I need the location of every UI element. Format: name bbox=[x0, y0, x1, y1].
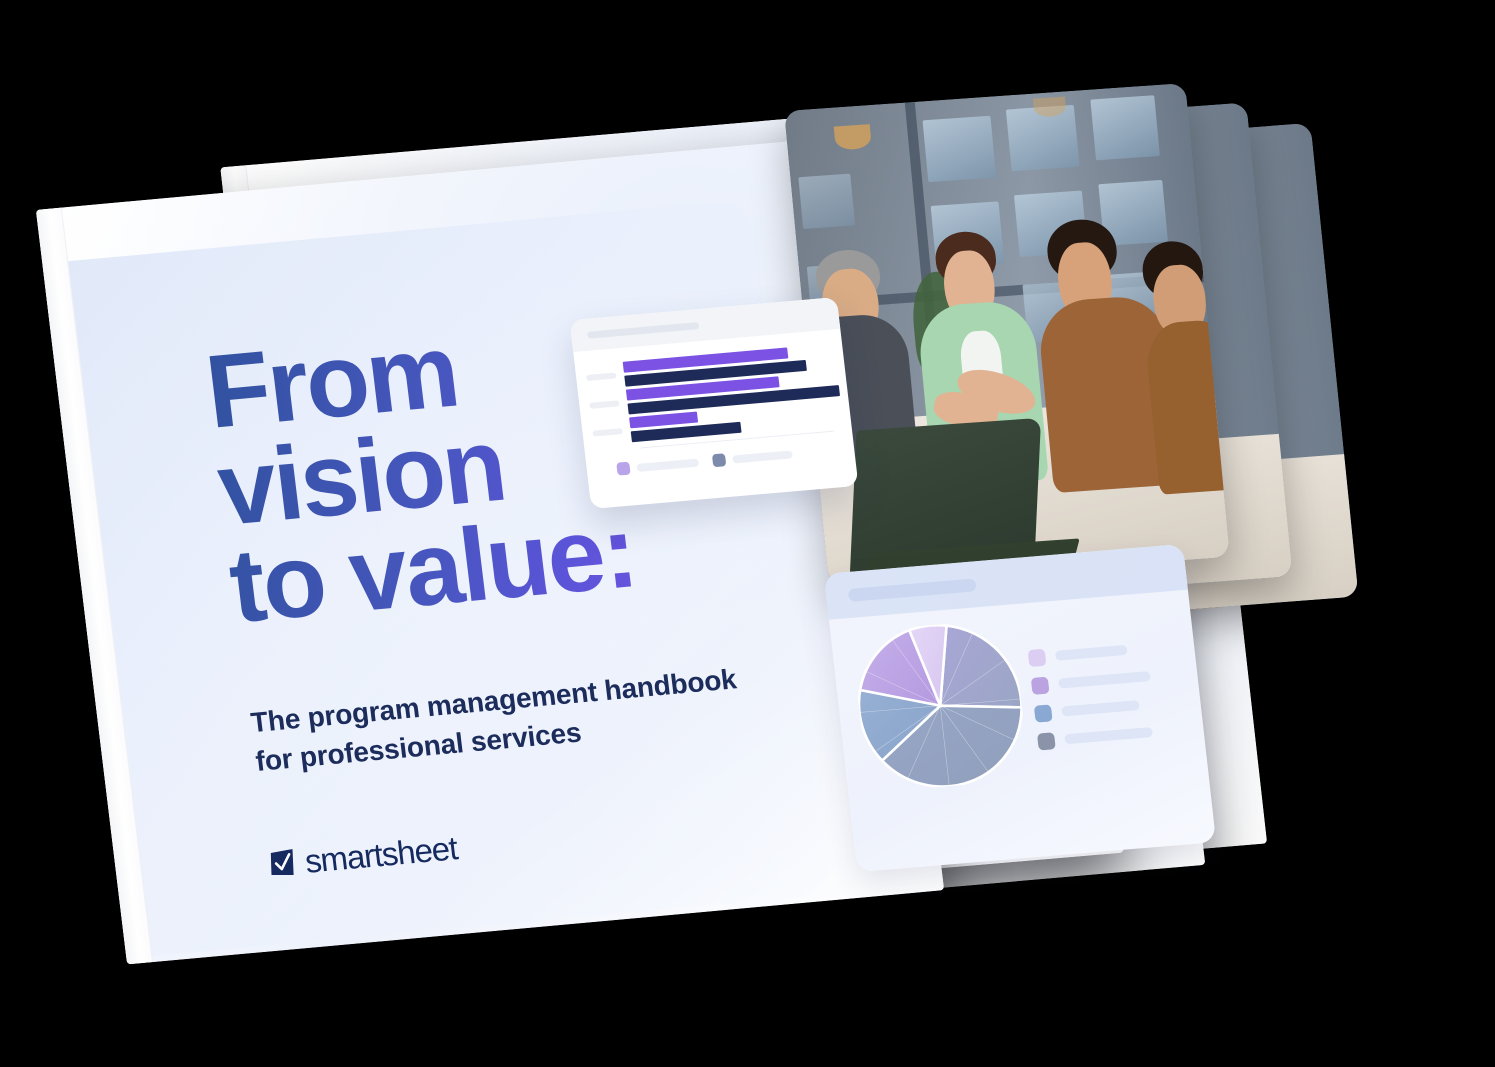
bar-chart-title-placeholder bbox=[587, 322, 699, 339]
legend-swatch bbox=[616, 462, 630, 476]
legend-item bbox=[1028, 640, 1149, 667]
legend-swatch bbox=[1037, 732, 1056, 750]
legend-label-placeholder bbox=[1058, 671, 1151, 689]
checkmark-square-icon bbox=[269, 849, 298, 879]
bar-chart-widget bbox=[570, 297, 859, 509]
legend-item bbox=[616, 456, 699, 476]
pie-chart-title-placeholder bbox=[848, 578, 977, 602]
legend-label-placeholder bbox=[1061, 700, 1140, 716]
legend-label-placeholder bbox=[1055, 645, 1128, 661]
legend-item bbox=[1031, 668, 1152, 695]
legend-item bbox=[712, 447, 793, 467]
legend-swatch bbox=[1031, 676, 1050, 694]
legend-swatch bbox=[1034, 704, 1053, 722]
bar-category-label bbox=[592, 428, 623, 437]
legend-label-placeholder bbox=[732, 450, 793, 463]
mockup-stage: From vision to value: The program manage… bbox=[0, 0, 1495, 1067]
legend-swatch bbox=[712, 453, 726, 467]
bar-category-label bbox=[586, 372, 617, 381]
legend-label-placeholder bbox=[1064, 727, 1153, 744]
legend-label-placeholder bbox=[636, 458, 699, 471]
team-photo-image bbox=[784, 83, 1230, 585]
bar-category-label bbox=[589, 400, 620, 409]
legend-item bbox=[1037, 723, 1158, 750]
pie-chart-plot bbox=[850, 618, 1030, 793]
photo-card bbox=[784, 83, 1230, 585]
pie-chart-legend bbox=[1027, 636, 1157, 750]
pie-chart-widget bbox=[824, 544, 1216, 872]
legend-item bbox=[1034, 695, 1155, 722]
legend-swatch bbox=[1028, 648, 1047, 666]
